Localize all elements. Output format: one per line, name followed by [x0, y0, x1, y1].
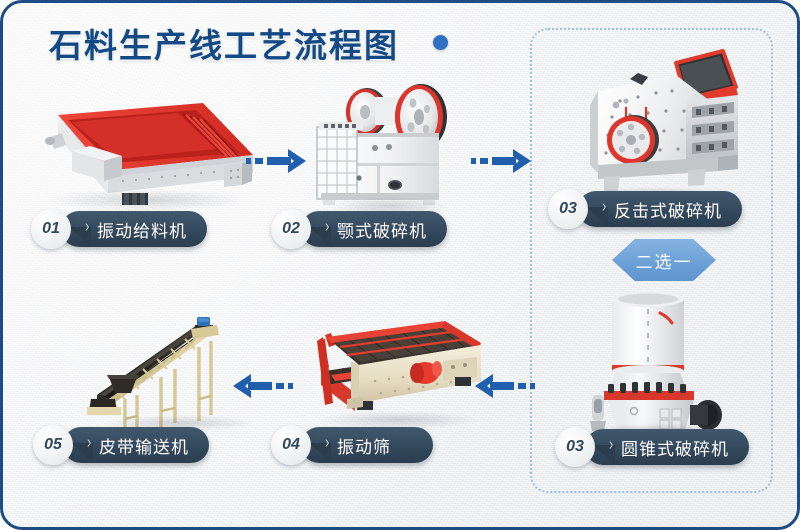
chevron-right-icon: ›	[609, 433, 614, 453]
step-name-vibrating-feeder: 振动给料机	[97, 217, 187, 242]
step-chip-jaw-crusher[interactable]: › 颚式破碎机	[301, 211, 447, 247]
step-number-04: 04	[271, 425, 311, 465]
vibrating-screen-illustration	[295, 315, 505, 430]
arrow-jaw-to-impact	[471, 146, 533, 176]
step-number-05: 05	[33, 425, 73, 465]
arrow-feeder-to-jaw	[246, 146, 308, 176]
belt-conveyor-illustration	[85, 303, 295, 433]
chevron-right-icon: ›	[325, 431, 330, 451]
page-title: 石料生产线工艺流程图	[49, 19, 399, 67]
step-number-01: 01	[31, 209, 71, 249]
step-chip-vibrating-screen[interactable]: › 振动筛	[301, 427, 433, 463]
step-name-belt-conveyor: 皮带输送机	[99, 433, 189, 458]
jaw-crusher-illustration	[303, 75, 473, 220]
step-name-jaw-crusher: 颚式破碎机	[337, 217, 427, 242]
flowchart-canvas: 石料生产线工艺流程图	[0, 0, 800, 530]
alternative-badge-label: 二选一	[612, 239, 716, 281]
step-chip-cone-crusher[interactable]: › 圆锥式破碎机	[585, 429, 749, 465]
title-dot-icon	[433, 35, 448, 50]
step-number-02: 02	[271, 209, 311, 249]
alternative-badge: 二选一	[612, 239, 716, 281]
step-name-impact-crusher: 反击式破碎机	[614, 197, 722, 222]
step-name-cone-crusher: 圆锥式破碎机	[621, 435, 729, 460]
chevron-right-icon: ›	[325, 215, 330, 235]
step-number-03-cone: 03	[555, 427, 595, 467]
step-chip-vibrating-feeder[interactable]: › 振动给料机	[61, 211, 207, 247]
chevron-right-icon: ›	[87, 431, 92, 451]
impact-crusher-illustration	[568, 45, 753, 210]
vibrating-feeder-illustration	[28, 93, 263, 213]
step-chip-belt-conveyor[interactable]: › 皮带输送机	[63, 427, 209, 463]
cone-crusher-illustration	[568, 281, 753, 441]
chevron-right-icon: ›	[85, 215, 90, 235]
chevron-right-icon: ›	[602, 195, 607, 215]
step-name-vibrating-screen: 振动筛	[337, 433, 391, 458]
step-chip-impact-crusher[interactable]: › 反击式破碎机	[578, 191, 742, 227]
step-number-03-impact: 03	[548, 189, 588, 229]
